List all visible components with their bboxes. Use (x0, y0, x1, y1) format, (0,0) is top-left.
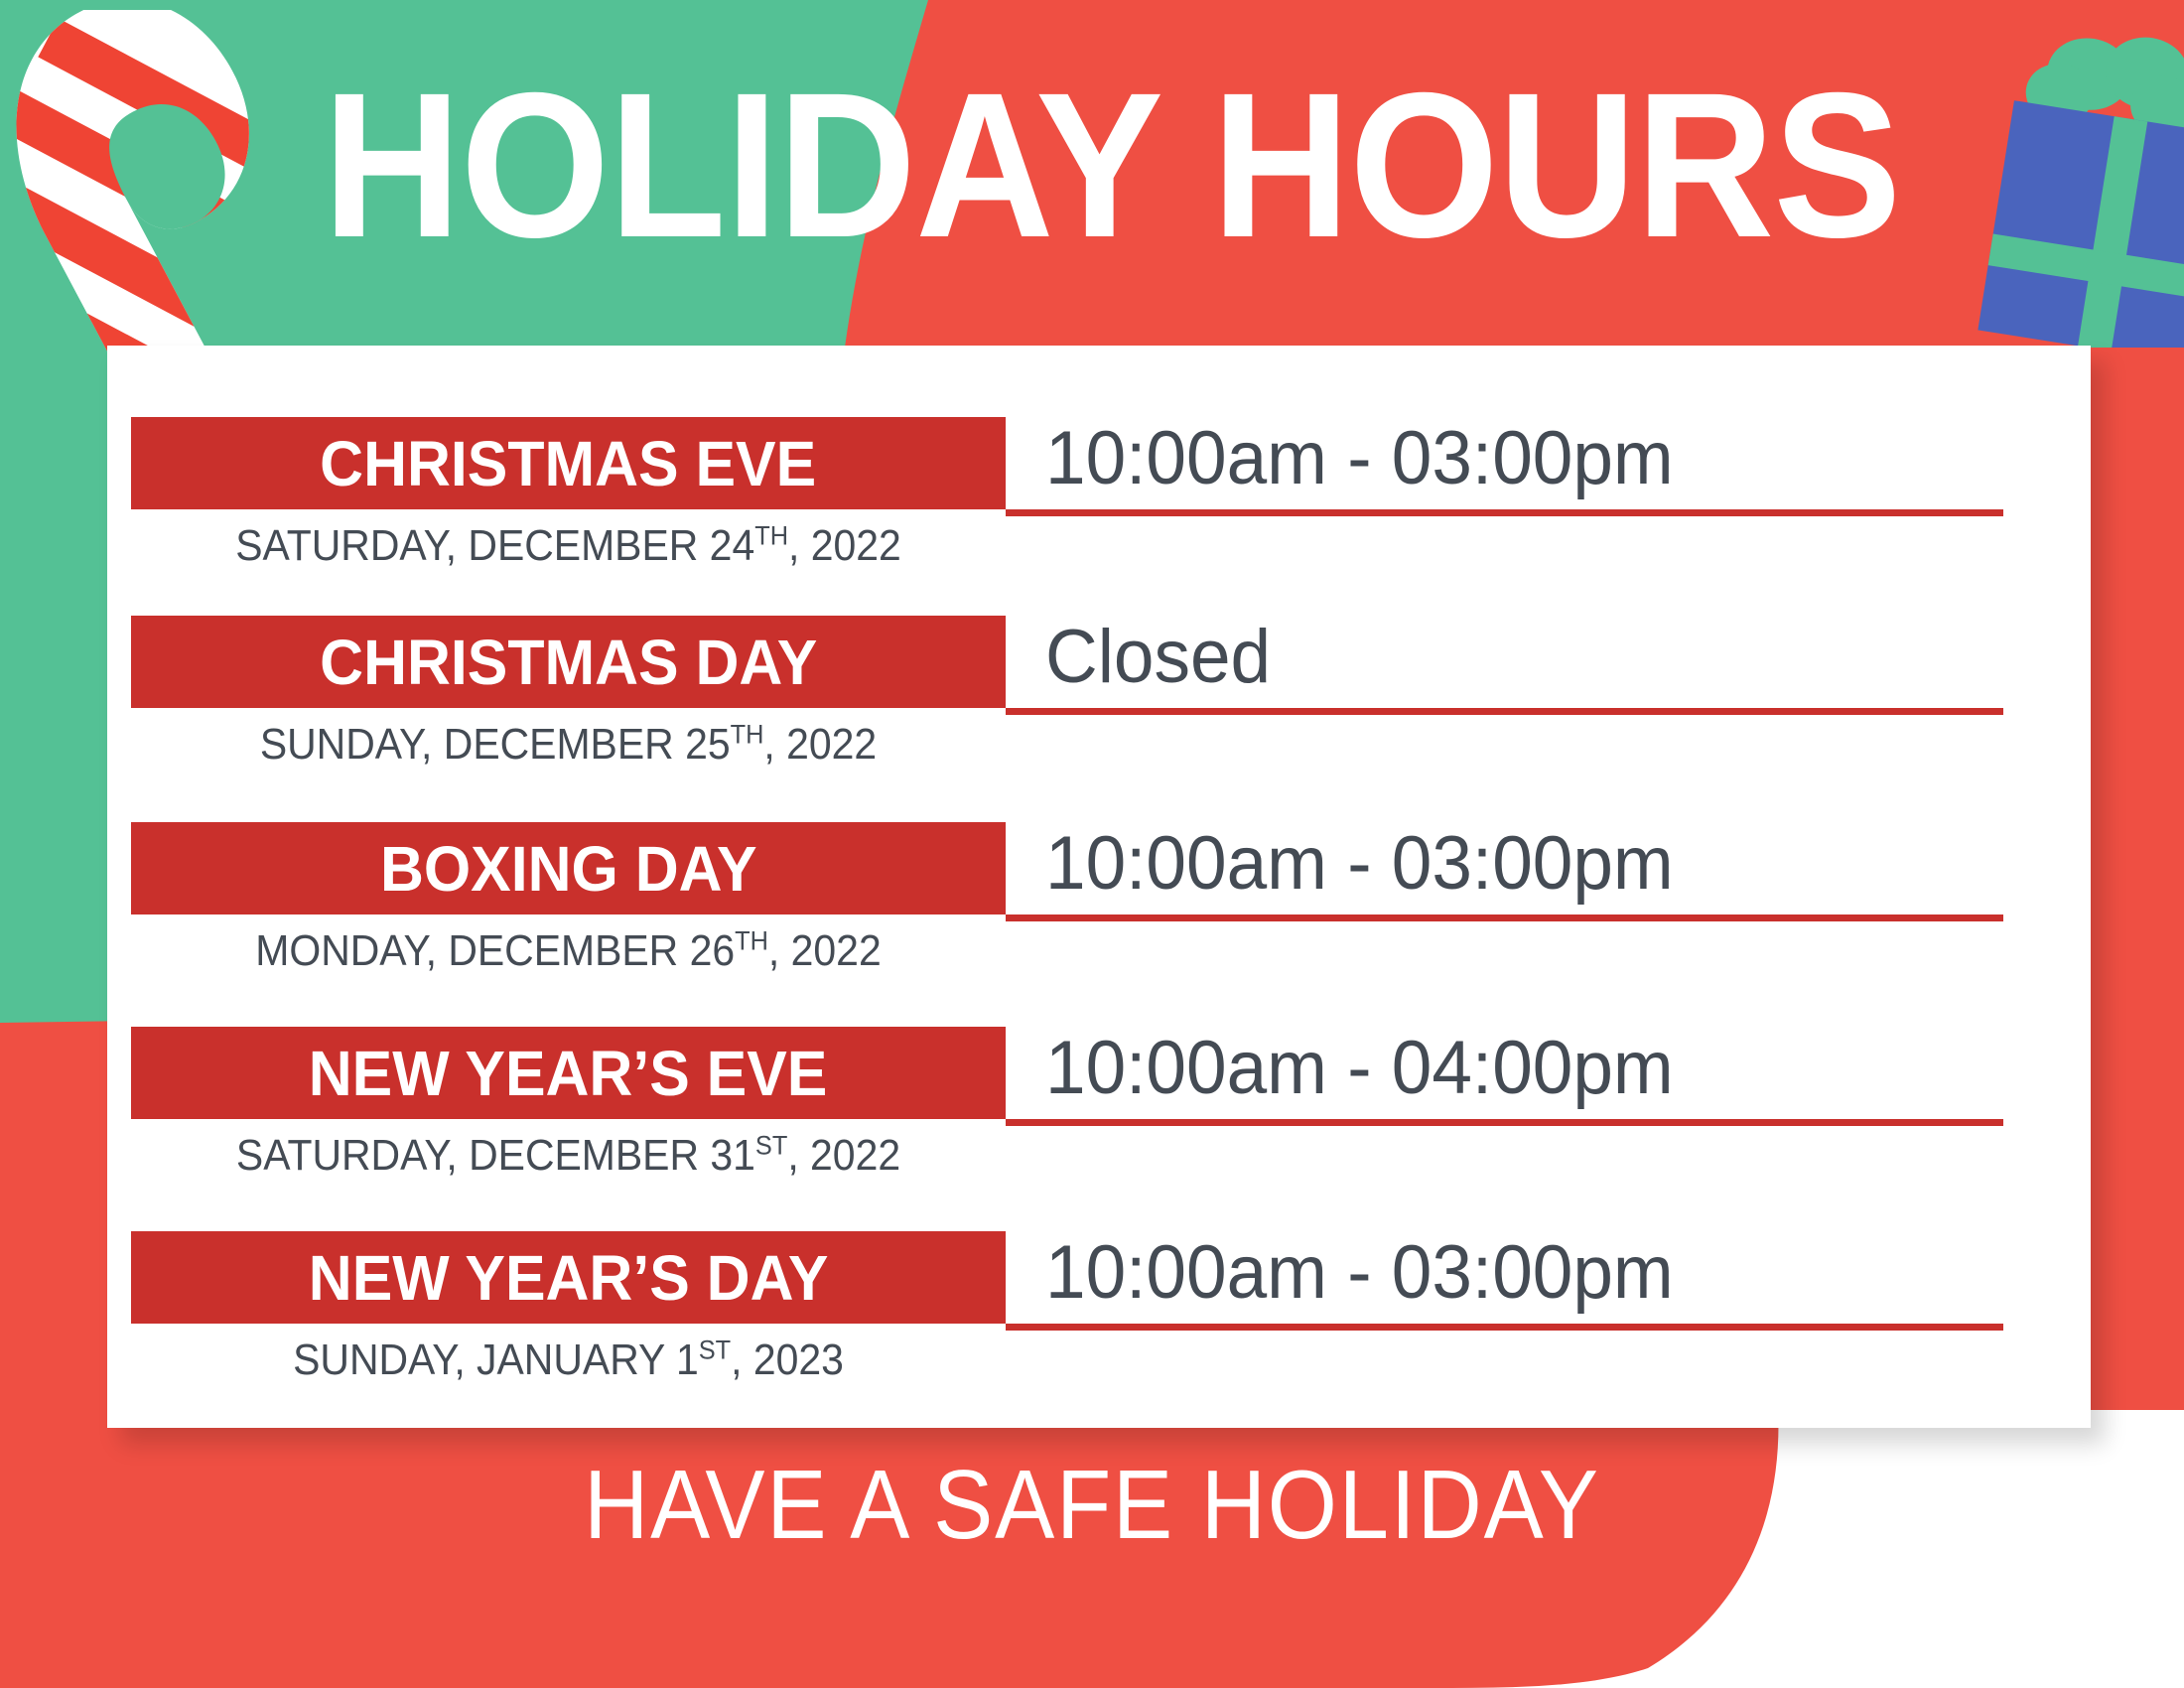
hours-underline (1006, 1119, 2003, 1126)
holiday-name: NEW YEAR’S EVE (309, 1042, 828, 1105)
holiday-name: CHRISTMAS DAY (320, 631, 817, 694)
candy-cane-icon (0, 10, 278, 387)
holiday-name: BOXING DAY (380, 837, 757, 901)
holiday-label-bar: BOXING DAY (131, 822, 1006, 914)
holiday-hours: 10:00am - 04:00pm (1045, 1029, 1674, 1108)
page-title: HOLIDAY HOURS (323, 62, 1800, 270)
holiday-label-bar: NEW YEAR’S EVE (131, 1027, 1006, 1119)
hours-underline (1006, 509, 2003, 516)
holiday-hours: Closed (1045, 618, 1271, 697)
holiday-label-bar: NEW YEAR’S DAY (131, 1231, 1006, 1324)
holiday-date: MONDAY, DECEMBER 26TH, 2022 (162, 927, 975, 975)
hours-card: CHRISTMAS EVE SATURDAY, DECEMBER 24TH, 2… (107, 346, 2091, 1428)
holiday-name: CHRISTMAS EVE (321, 432, 817, 495)
holiday-date: SUNDAY, DECEMBER 25TH, 2022 (162, 721, 975, 769)
holiday-label-bar: CHRISTMAS DAY (131, 616, 1006, 708)
hours-underline (1006, 1324, 2003, 1331)
holiday-hours: 10:00am - 03:00pm (1045, 419, 1674, 498)
footer-message: HAVE A SAFE HOLIDAY (87, 1453, 2097, 1556)
holiday-hours: 10:00am - 03:00pm (1045, 1233, 1674, 1313)
gift-box-icon (1951, 20, 2184, 348)
holiday-date: SUNDAY, JANUARY 1ST, 2023 (162, 1336, 975, 1384)
holiday-date: SATURDAY, DECEMBER 31ST, 2022 (162, 1132, 975, 1180)
holiday-hours: 10:00am - 03:00pm (1045, 824, 1674, 904)
hours-underline (1006, 708, 2003, 715)
holiday-name: NEW YEAR’S DAY (309, 1246, 829, 1310)
holiday-label-bar: CHRISTMAS EVE (131, 417, 1006, 509)
hours-underline (1006, 914, 2003, 921)
holiday-date: SATURDAY, DECEMBER 24TH, 2022 (162, 522, 975, 570)
holiday-hours-poster: HOLIDAY HOURS CHRISTMAS EVE SATURDAY, DE… (0, 0, 2184, 1688)
